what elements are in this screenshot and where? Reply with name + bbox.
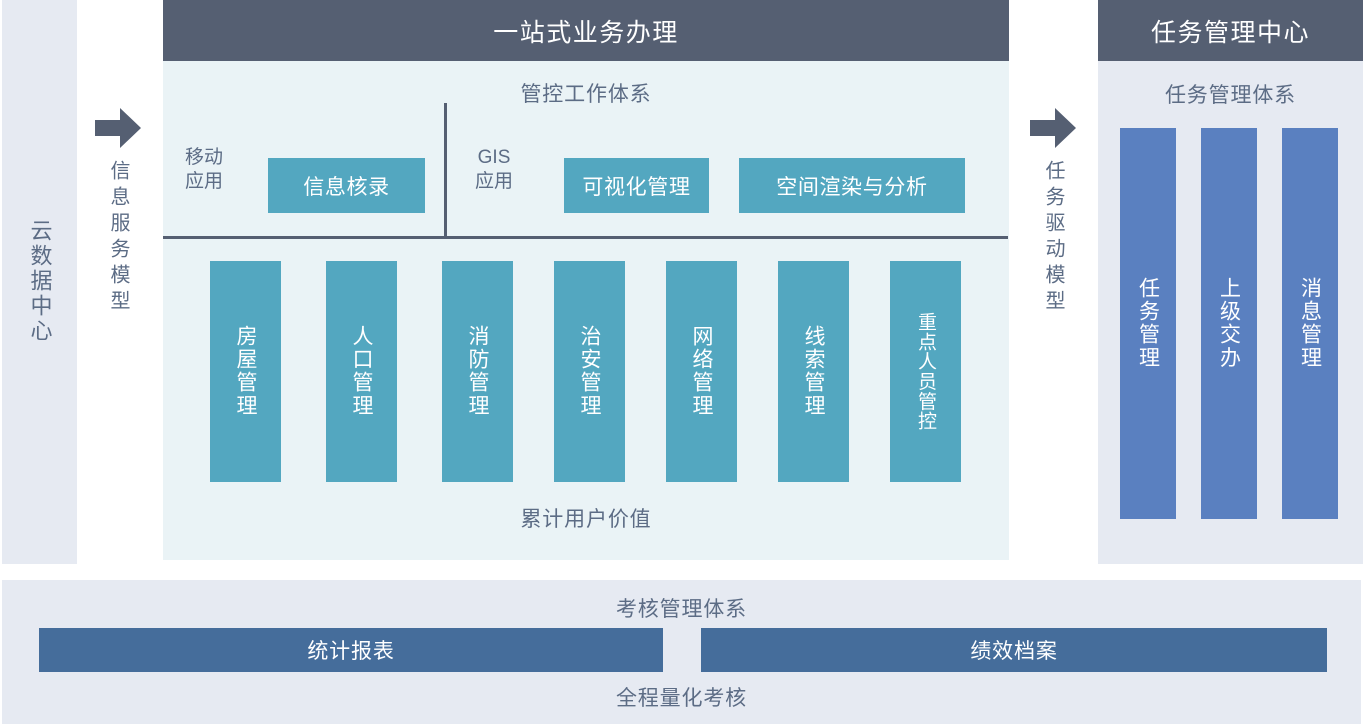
domain-column-fire-safety-label: 消防管理	[467, 325, 488, 417]
app-chip-spatial-render-analysis-label: 空间渲染与分析	[776, 171, 927, 201]
app-chip-spatial-render-analysis[interactable]: 空间渲染与分析	[739, 158, 965, 213]
domain-column-clues[interactable]: 线索管理	[778, 261, 849, 482]
domain-column-clues-label: 线索管理	[803, 325, 824, 417]
domain-column-population-label: 人口管理	[351, 325, 372, 417]
task-management-center-panel: 任务管理中心 任务管理体系 任务管理 上级交办 消息管理	[1098, 0, 1363, 564]
domain-column-fire-safety[interactable]: 消防管理	[442, 261, 513, 482]
domain-column-public-security-label: 治安管理	[579, 325, 600, 417]
app-chip-visual-management-label: 可视化管理	[582, 171, 690, 201]
arrow-right-icon	[95, 108, 141, 148]
task-driven-model-label-group: 任务驱动模型	[1030, 160, 1076, 420]
task-column-superior-assignment[interactable]: 上级交办	[1201, 128, 1257, 519]
app-group-gis: GIS 应用	[475, 103, 513, 237]
main-panel-footnote: 累计用户价值	[163, 503, 1009, 533]
task-panel-header: 任务管理中心	[1098, 0, 1363, 61]
cloud-data-center-strip[interactable]: 云数据中心	[2, 0, 77, 564]
domain-column-housing-label: 房屋管理	[235, 325, 256, 417]
app-chip-visual-management[interactable]: 可视化管理	[564, 158, 709, 213]
arrow-right-icon-2	[1030, 108, 1076, 148]
app-group-mobile-label: 移动 应用	[185, 146, 223, 194]
task-driven-model-label: 任务驱动模型	[1043, 160, 1063, 316]
task-column-message-management[interactable]: 消息管理	[1282, 128, 1338, 519]
app-chip-info-entry[interactable]: 信息核录	[268, 158, 425, 213]
app-group-vertical-divider	[444, 103, 447, 237]
app-chip-info-entry-label: 信息核录	[303, 171, 390, 201]
assessment-bar-statistical-reports-label: 统计报表	[307, 635, 394, 665]
layer-horizontal-divider	[163, 236, 1008, 239]
main-panel-title: 一站式业务办理	[493, 13, 679, 49]
task-panel-title: 任务管理中心	[1151, 13, 1310, 49]
main-panel-header: 一站式业务办理	[163, 0, 1009, 61]
assessment-panel-footnote: 全程量化考核	[2, 682, 1361, 712]
info-service-model-label-group: 信息服务模型	[95, 160, 141, 420]
app-group-gis-label: GIS 应用	[475, 146, 513, 194]
task-panel-subtitle: 任务管理体系	[1098, 79, 1363, 109]
task-column-task-management-label: 任务管理	[1138, 277, 1159, 369]
domain-column-network-label: 网络管理	[691, 325, 712, 417]
assessment-management-panel: 考核管理体系 统计报表 绩效档案 全程量化考核	[2, 580, 1361, 724]
assessment-bar-performance-archive[interactable]: 绩效档案	[701, 628, 1327, 672]
assessment-bar-performance-archive-label: 绩效档案	[970, 635, 1057, 665]
task-column-task-management[interactable]: 任务管理	[1120, 128, 1176, 519]
application-layer-row: 移动 应用 信息核录 GIS 应用 可视化管理 空间渲染与分析	[163, 103, 1009, 237]
app-group-mobile: 移动 应用	[185, 103, 223, 237]
cloud-data-center-label: 云数据中心	[29, 219, 51, 344]
info-service-model-label: 信息服务模型	[108, 160, 128, 316]
domain-column-population[interactable]: 人口管理	[326, 261, 397, 482]
domain-column-key-persons-label: 重点人员管控	[916, 312, 935, 431]
assessment-panel-title: 考核管理体系	[2, 593, 1361, 623]
domain-column-key-persons[interactable]: 重点人员管控	[890, 261, 961, 482]
diagram-canvas: 云数据中心 信息服务模型 一站式业务办理 管控工作体系 移动 应用 信息核录 G…	[0, 0, 1363, 726]
task-column-message-management-label: 消息管理	[1300, 277, 1321, 369]
one-stop-business-panel: 一站式业务办理 管控工作体系 移动 应用 信息核录 GIS 应用 可视化管理 空…	[163, 0, 1009, 560]
assessment-bar-statistical-reports[interactable]: 统计报表	[39, 628, 663, 672]
task-column-superior-assignment-label: 上级交办	[1219, 277, 1240, 369]
domain-column-public-security[interactable]: 治安管理	[554, 261, 625, 482]
domain-column-network[interactable]: 网络管理	[666, 261, 737, 482]
domain-column-housing[interactable]: 房屋管理	[210, 261, 281, 482]
